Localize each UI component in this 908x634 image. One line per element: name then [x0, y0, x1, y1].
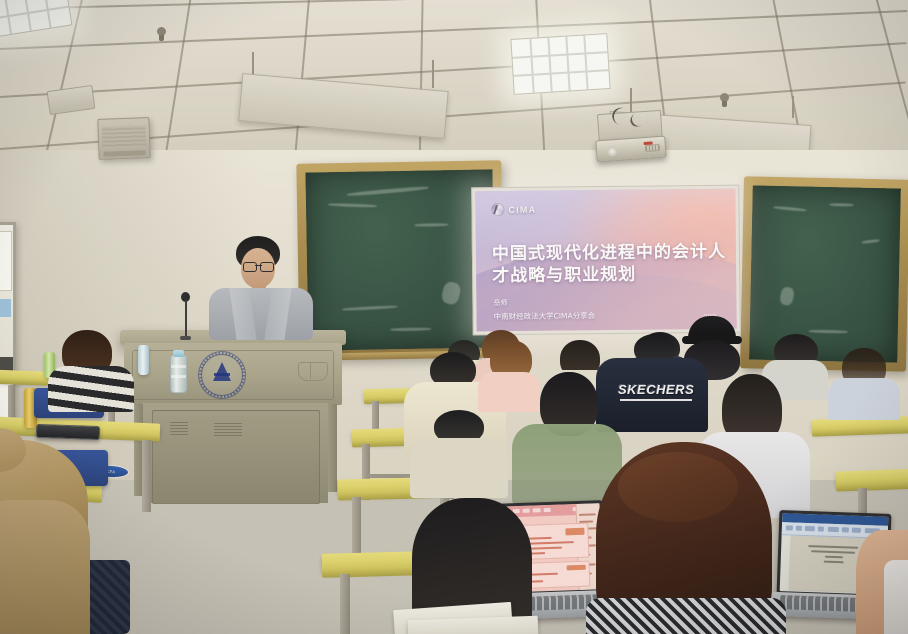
etched-panel-motif — [298, 362, 328, 381]
cima-logo-text: CIMA — [508, 204, 536, 214]
university-crest — [198, 351, 246, 399]
classroom-photo: CIMA 中国式现代化进程中的会计人 才战略与职业规划 岳师 中南财经政法大学C… — [0, 0, 908, 634]
slide-speaker-label: 岳师 — [493, 298, 507, 310]
beverage-bottle — [138, 345, 149, 375]
slide-title-line2: 才战略与职业规划 — [492, 265, 636, 287]
recessed-fluorescent-panel — [0, 0, 72, 38]
skechers-logo-text: SKECHERS — [618, 382, 694, 397]
student-garment — [586, 598, 786, 634]
cima-circular-emblem-icon — [491, 203, 504, 216]
presenter-blazer — [209, 288, 313, 340]
projected-slide: CIMA 中国式现代化进程中的会计人 才战略与职业规划 岳师 中南财经政法大学C… — [471, 185, 741, 336]
wall-speaker — [97, 117, 150, 160]
seated-student — [0, 500, 90, 634]
student-garment — [828, 378, 900, 420]
striped-sweater — [48, 366, 134, 412]
student-garment — [478, 372, 540, 412]
water-bottle — [170, 355, 187, 393]
eyeglasses-icon — [243, 262, 274, 270]
projector-lens — [606, 146, 617, 157]
green-chalkboard — [740, 176, 908, 371]
smartphone-on-desk — [36, 424, 100, 440]
fire-sprinkler — [720, 93, 729, 102]
fire-sprinkler — [157, 27, 166, 36]
air-vent — [47, 85, 96, 115]
slide-organizer: 中南财经政法大学CIMA分享会 — [494, 310, 596, 324]
cima-logo: CIMA — [491, 203, 536, 216]
recessed-fluorescent-panel — [510, 33, 610, 95]
student-garment — [410, 438, 508, 498]
slide-title-line1: 中国式现代化进程中的会计人 — [492, 242, 726, 265]
